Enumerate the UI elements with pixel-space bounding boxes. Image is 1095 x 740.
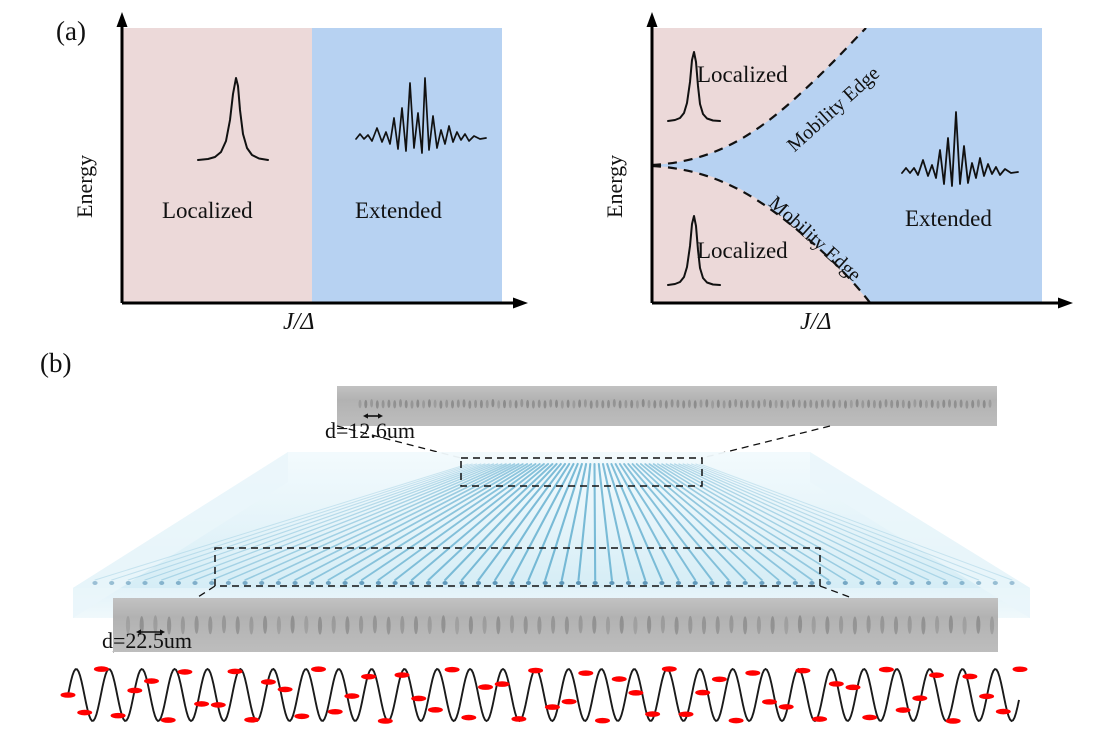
modulation-sine-curve (68, 669, 1019, 721)
x-axis-arrow (513, 298, 528, 309)
y-axis-label-right: Energy (602, 155, 628, 218)
panel-label-a: (a) (56, 16, 86, 47)
y-axis-label-left: Energy (72, 155, 98, 218)
region-label-localized: Localized (162, 198, 253, 224)
scale-label-top: d=12.6um (325, 418, 415, 444)
x-axis-label-right: J/Δ (800, 309, 831, 336)
x-axis-arrow (1058, 298, 1073, 309)
figure-root: (a) Energy J/Δ Localized Extended (0, 0, 1095, 740)
y-axis-arrow (117, 12, 128, 27)
region-extended (312, 28, 502, 303)
region-label-localized-lower: Localized (697, 238, 788, 264)
scale-label-bottom: d=22.5um (102, 628, 192, 654)
region-localized (122, 28, 312, 303)
region-label-extended: Extended (905, 206, 992, 232)
chart-sharp-transition (90, 8, 530, 338)
micrograph-bottom-strip (113, 598, 998, 652)
y-axis-arrow (647, 12, 658, 27)
x-axis-label-left: J/Δ (283, 309, 314, 336)
chart-mobility-edge (620, 8, 1090, 338)
region-label-localized-upper: Localized (697, 62, 788, 88)
region-label-extended: Extended (355, 198, 442, 224)
panel-b-graphic (0, 340, 1095, 740)
